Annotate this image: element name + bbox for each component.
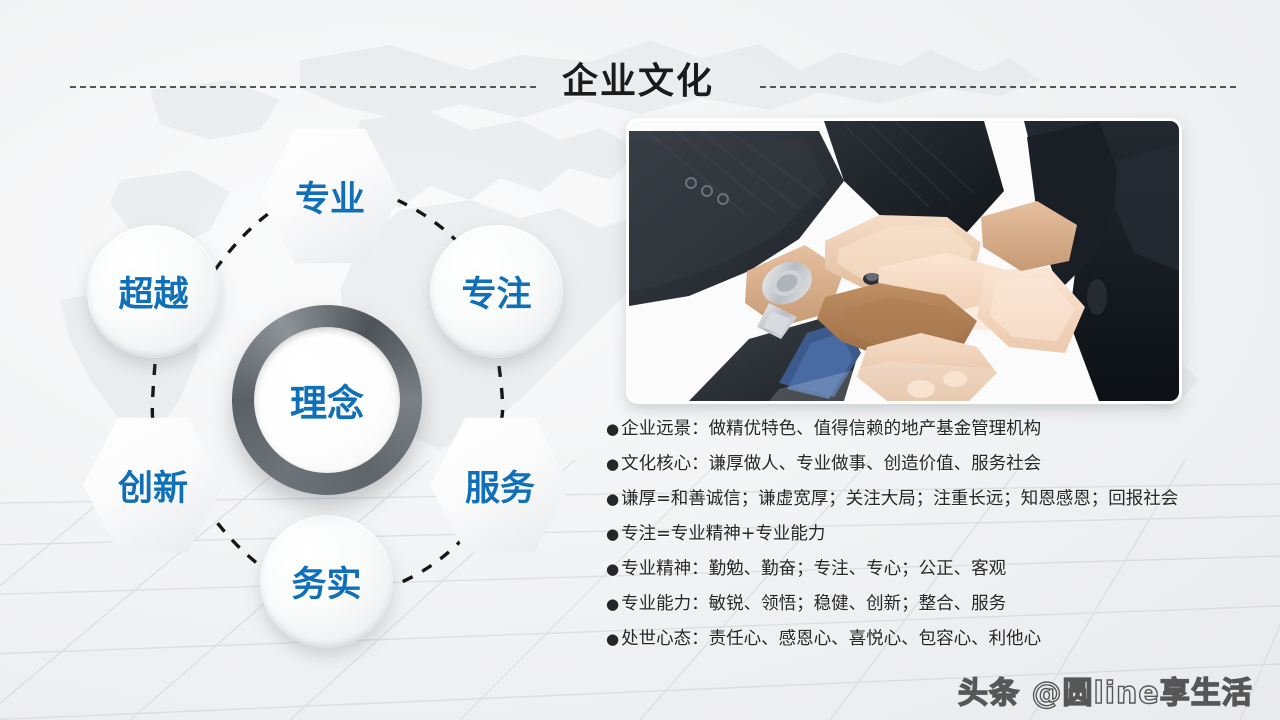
bullet-text: 专业能力：敏锐、领悟；稳健、创新；整合、服务 [621, 590, 1256, 619]
center-ring[interactable]: 理念 [232, 305, 422, 495]
bullet-text: 文化核心：谦厚做人、专业做事、创造价值、服务社会 [621, 450, 1256, 479]
node-label: 专注 [461, 266, 531, 317]
concept-diagram: 专业 专注 服务 务实 创新 超越 理念 [55, 120, 615, 660]
node-zhuanye[interactable]: 专业 [260, 126, 400, 266]
bullet-text: 专业精神：勤勉、勤奋；专注、专心；公正、客观 [621, 555, 1256, 584]
node-chuangxin[interactable]: 创新 [83, 415, 223, 555]
culture-bullet-list: ● 企业远景：做精优特色、值得信赖的地产基金管理机构 ● 文化核心：谦厚做人、专… [606, 415, 1256, 660]
watermark: 头条 @圆line享生活 [958, 668, 1253, 712]
center-label: 理念 [254, 327, 400, 473]
header-rule-right [760, 86, 1236, 88]
teamwork-photo [626, 118, 1182, 404]
node-label: 专业 [295, 171, 365, 222]
bullet-item: ● 文化核心：谦厚做人、专业做事、创造价值、服务社会 [606, 450, 1256, 479]
bullet-text: 谦厚=和善诚信；谦虚宽厚；关注大局；注重长远；知恩感恩；回报社会 [621, 485, 1256, 514]
header: 企业文化 [0, 58, 1280, 110]
node-label: 超越 [118, 266, 188, 317]
bullet-marker: ● [606, 555, 619, 584]
bullet-text: 处世心态：责任心、感恩心、喜悦心、包容心、利他心 [621, 625, 1256, 654]
bullet-item: ● 专业能力：敏锐、领悟；稳健、创新；整合、服务 [606, 590, 1256, 619]
node-label: 务实 [291, 556, 361, 607]
node-chaoyue[interactable]: 超越 [87, 225, 220, 358]
bullet-item: ● 专注=专业精神+专业能力 [606, 520, 1256, 549]
node-label: 创新 [118, 460, 188, 511]
bullet-marker: ● [606, 415, 619, 444]
page-title: 企业文化 [562, 56, 714, 108]
node-zhuanzhu[interactable]: 专注 [430, 225, 563, 358]
header-rule-left [70, 86, 536, 88]
bullet-marker: ● [606, 450, 619, 479]
bullet-item: ● 处世心态：责任心、感恩心、喜悦心、包容心、利他心 [606, 625, 1256, 654]
bullet-text: 企业远景：做精优特色、值得信赖的地产基金管理机构 [621, 415, 1256, 444]
bullet-marker: ● [606, 485, 619, 514]
slide-root: 企业文化 专业 专注 服务 务实 [0, 0, 1280, 720]
bullet-item: ● 谦厚=和善诚信；谦虚宽厚；关注大局；注重长远；知恩感恩；回报社会 [606, 485, 1256, 514]
bullet-marker: ● [606, 625, 619, 654]
bullet-item: ● 企业远景：做精优特色、值得信赖的地产基金管理机构 [606, 415, 1256, 444]
node-wushi[interactable]: 务实 [260, 515, 393, 648]
bullet-marker: ● [606, 520, 619, 549]
bullet-item: ● 专业精神：勤勉、勤奋；专注、专心；公正、客观 [606, 555, 1256, 584]
bullet-text: 专注=专业精神+专业能力 [621, 520, 1256, 549]
bullet-marker: ● [606, 590, 619, 619]
node-fuwu[interactable]: 服务 [430, 415, 570, 555]
node-label: 服务 [465, 460, 535, 511]
